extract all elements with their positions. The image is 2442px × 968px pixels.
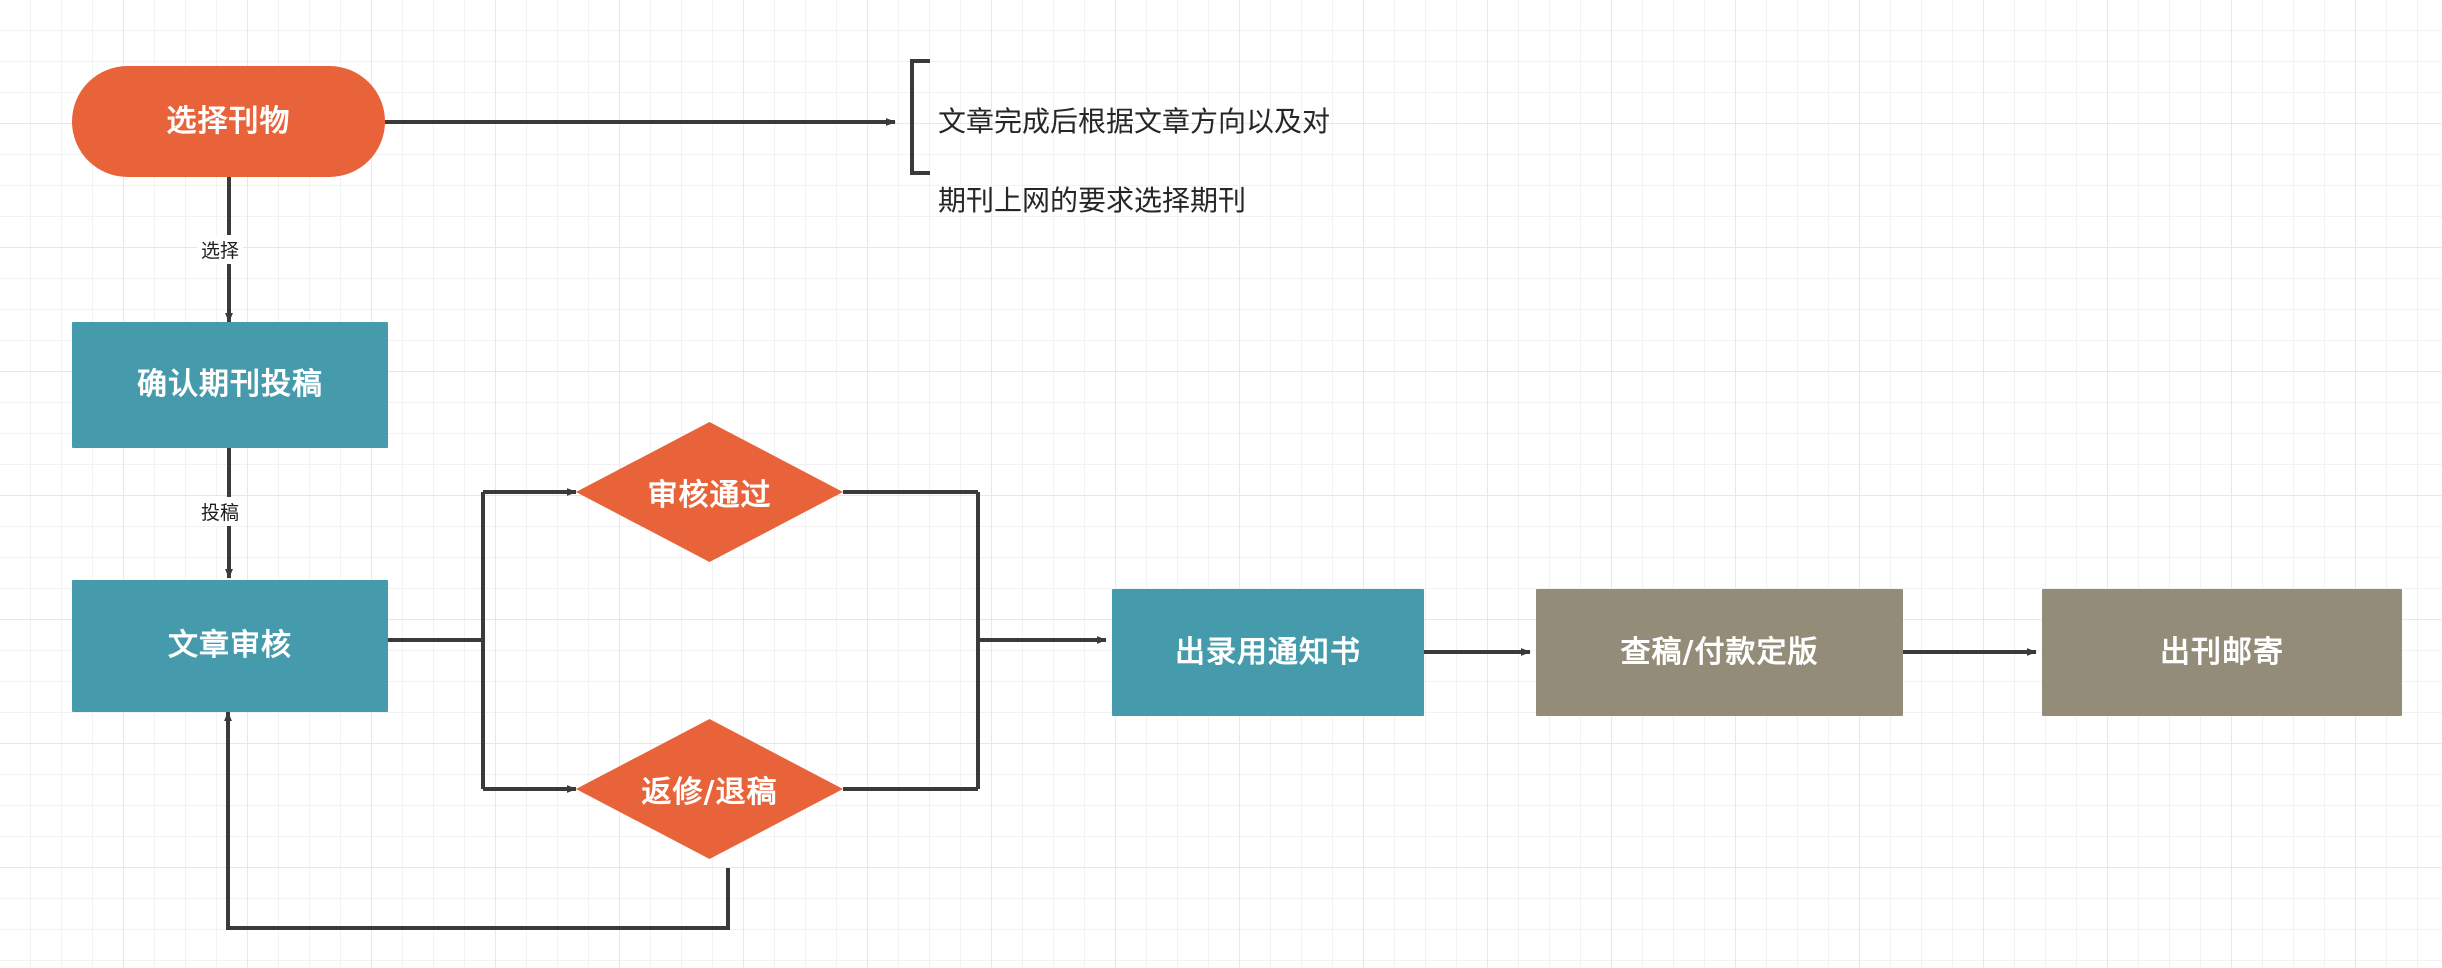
note-journal-choice: 文章完成后根据文章方向以及对 期刊上网的要求选择期刊 <box>938 62 1498 261</box>
node-article-review-label: 文章审核 <box>168 628 292 664</box>
node-proof-payment-label: 查稿/付款定版 <box>1621 635 1819 671</box>
node-article-review[interactable]: 文章审核 <box>72 580 388 712</box>
note-line-1: 文章完成后根据文章方向以及对 <box>938 102 1498 142</box>
edge-label-submit: 投稿 <box>197 497 243 526</box>
node-acceptance-letter[interactable]: 出录用通知书 <box>1112 589 1424 716</box>
node-select-journal-label: 选择刊物 <box>167 104 291 140</box>
node-revise-reject[interactable]: 返修/退稿 <box>576 719 843 859</box>
note-line-2: 期刊上网的要求选择期刊 <box>938 181 1498 221</box>
node-confirm-submit-label: 确认期刊投稿 <box>137 367 323 403</box>
node-review-passed-label: 审核通过 <box>576 422 843 562</box>
flowchart-canvas: 选择刊物 确认期刊投稿 文章审核 审核通过 返修/退稿 出录用通知书 查稿/付款… <box>0 0 2442 968</box>
node-select-journal[interactable]: 选择刊物 <box>72 66 385 177</box>
node-acceptance-letter-label: 出录用通知书 <box>1175 635 1361 671</box>
node-publish-mail-label: 出刊邮寄 <box>2160 635 2284 671</box>
node-publish-mail[interactable]: 出刊邮寄 <box>2042 589 2402 716</box>
node-review-passed[interactable]: 审核通过 <box>576 422 843 562</box>
note-bracket <box>912 61 930 173</box>
node-revise-reject-label: 返修/退稿 <box>576 719 843 859</box>
edge-label-select: 选择 <box>197 235 243 264</box>
node-confirm-submit[interactable]: 确认期刊投稿 <box>72 322 388 448</box>
node-proof-payment[interactable]: 查稿/付款定版 <box>1536 589 1903 716</box>
